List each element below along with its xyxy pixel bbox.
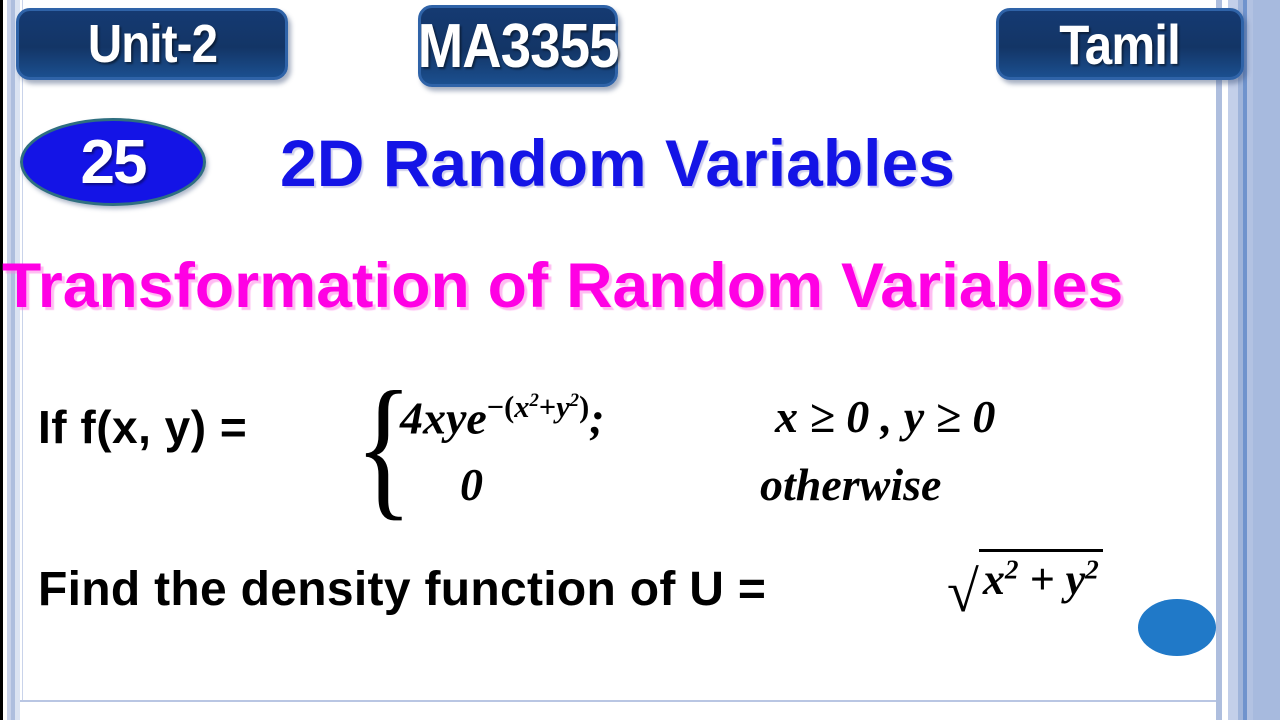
page-subtitle: Transformation of Random Variables <box>2 250 1123 322</box>
badge-language-label: Tamil <box>1060 12 1181 77</box>
radicand: x2 + y2 <box>979 549 1103 605</box>
pointer-ellipse <box>1138 599 1216 656</box>
case1-exponent: −(x2+y2) <box>487 390 589 424</box>
case1-terminator: ; <box>589 392 604 443</box>
radical-sign: √ <box>947 559 979 624</box>
badge-unit-label: Unit-2 <box>87 13 216 75</box>
piecewise-case1-condition: x ≥ 0 , y ≥ 0 <box>775 390 995 443</box>
badge-unit: Unit-2 <box>16 8 288 80</box>
inner-frame-line-bottom <box>20 700 1216 702</box>
problem-lead-text: If f(x, y) = <box>38 400 247 454</box>
left-stripe-d <box>15 0 20 720</box>
question-radical-expression: √x2 + y2 <box>947 560 1103 616</box>
slide-number-label: 25 <box>81 127 146 198</box>
slide-number-bubble: 25 <box>20 118 206 206</box>
case1-base: 4xye <box>400 392 487 443</box>
case1-exponent-sign: − <box>487 390 504 424</box>
badge-language: Tamil <box>996 8 1244 80</box>
badge-course-code: MA3355 <box>418 5 618 87</box>
piecewise-case2-expression: 0 <box>460 458 483 511</box>
slide-canvas: Unit-2 MA3355 Tamil 25 2D Random Variabl… <box>0 0 1280 720</box>
piecewise-case1-expression: 4xye−(x2+y2); <box>400 390 605 444</box>
page-title: 2D Random Variables <box>280 125 955 201</box>
inner-frame-line-left <box>22 0 23 702</box>
question-text: Find the density function of U = <box>38 562 766 617</box>
badge-course-code-label: MA3355 <box>418 11 619 82</box>
right-stripe-c <box>1228 0 1238 720</box>
right-stripe-h <box>1253 0 1280 720</box>
piecewise-case2-condition: otherwise <box>760 458 941 511</box>
